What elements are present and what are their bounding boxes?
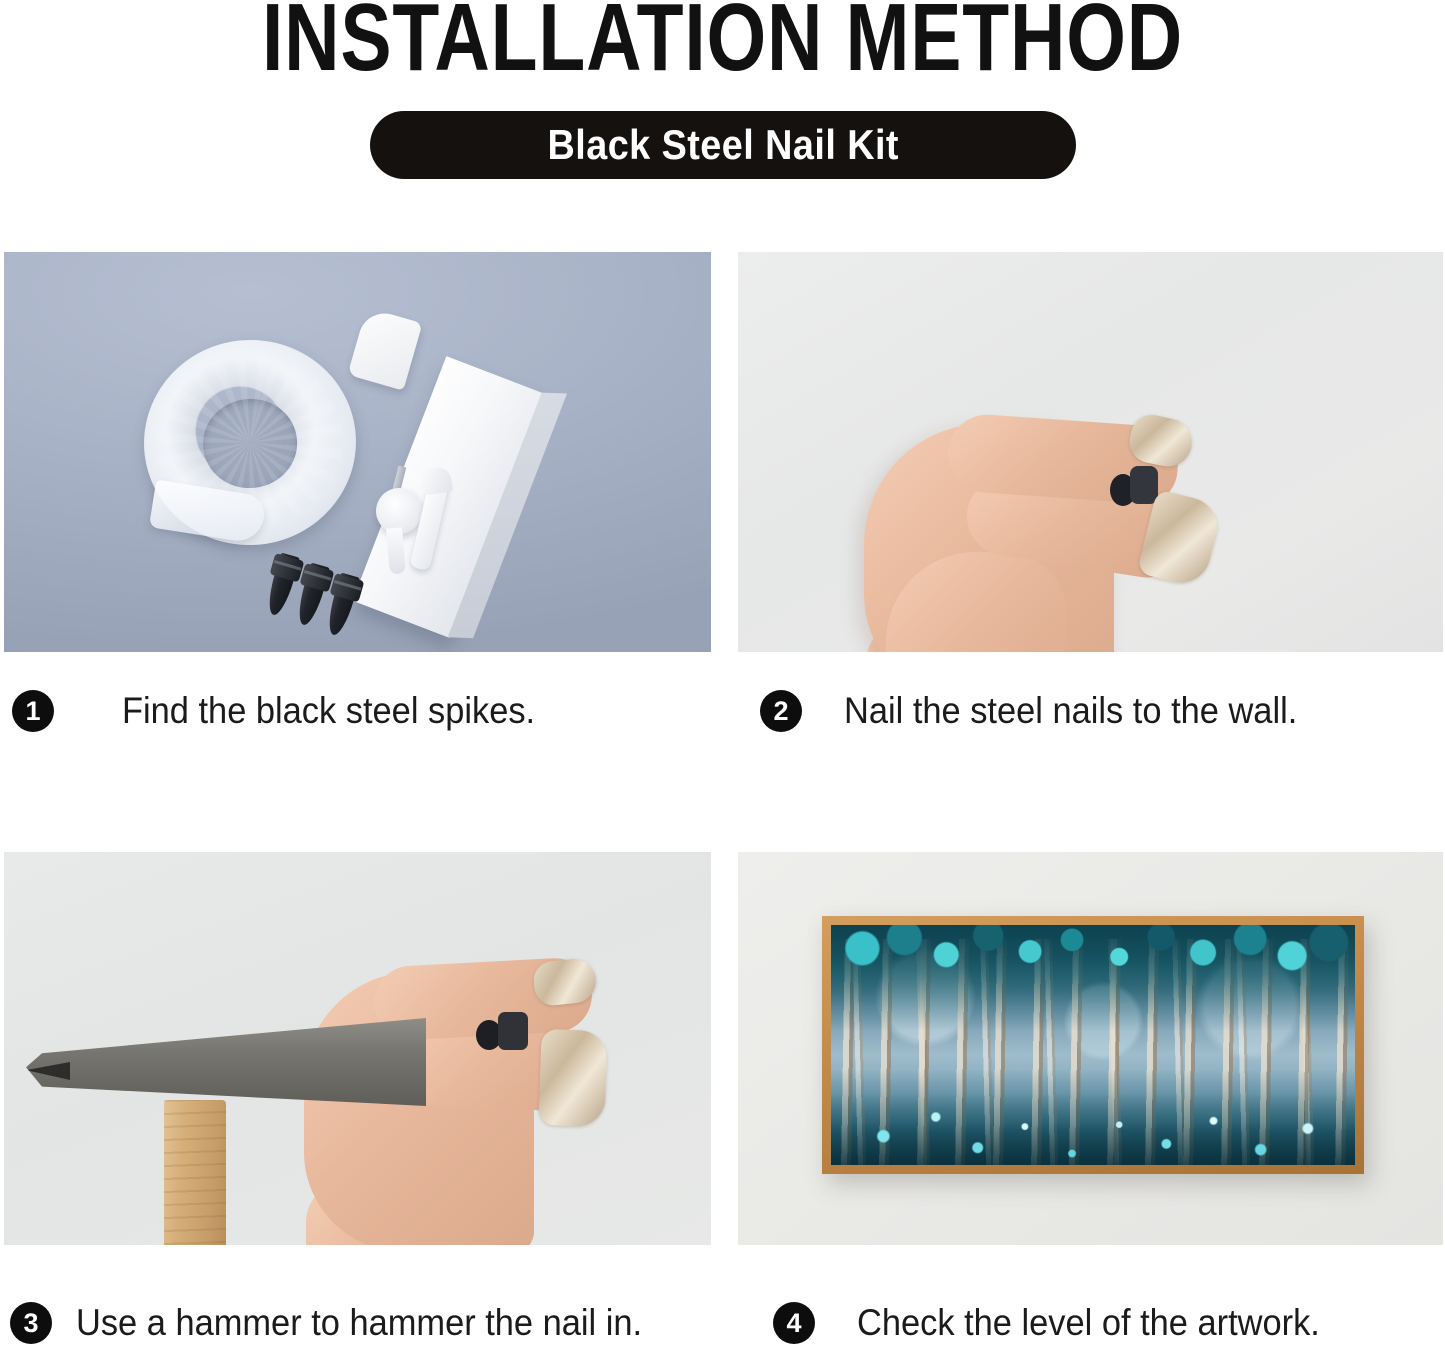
wall-background [4,852,711,1245]
step-1-image [4,252,711,652]
gallery-wall-background [738,852,1443,1245]
step-caption-text: Nail the steel nails to the wall. [844,690,1297,732]
page-title: INSTALLATION METHOD [145,0,1301,86]
forest-floor-speckles [831,1069,1355,1165]
step-3-image [4,852,711,1245]
artwork-canvas [831,925,1355,1165]
steel-spike [264,552,300,617]
kit-photo-background [4,252,711,652]
header: INSTALLATION METHOD Black Steel Nail Kit [0,0,1445,200]
wall-background [738,252,1443,652]
artwork-frame [822,916,1364,1174]
step-caption-text: Use a hammer to hammer the nail in. [76,1302,642,1344]
step-4-image [738,852,1443,1245]
step-number-badge: 1 [12,690,54,732]
hammer-handle [164,1100,226,1245]
white-hook [376,488,422,534]
step-2-caption: 2 Nail the steel nails to the wall. [760,686,1331,736]
steel-nail-body [1130,466,1158,504]
fingernail [538,1029,607,1127]
step-2-image [738,252,1443,652]
step-caption-text: Find the black steel spikes. [122,690,535,732]
box-flap [347,307,422,390]
step-caption-text: Check the level of the artwork. [857,1302,1320,1344]
step-1-caption: 1 Find the black steel spikes. [12,686,566,736]
step-number-badge: 4 [773,1302,815,1344]
step-number-badge: 2 [760,690,802,732]
step-4-caption: 4 Check the level of the artwork. [773,1298,1355,1348]
tree-canopy [831,925,1355,1031]
steel-nail-body [498,1012,528,1050]
step-3-caption: 3 Use a hammer to hammer the nail in. [10,1298,685,1348]
subtitle-pill: Black Steel Nail Kit [370,111,1076,179]
hammer-head [26,1018,426,1106]
step-number-badge: 3 [10,1302,52,1344]
subtitle-label: Black Steel Nail Kit [547,123,898,167]
